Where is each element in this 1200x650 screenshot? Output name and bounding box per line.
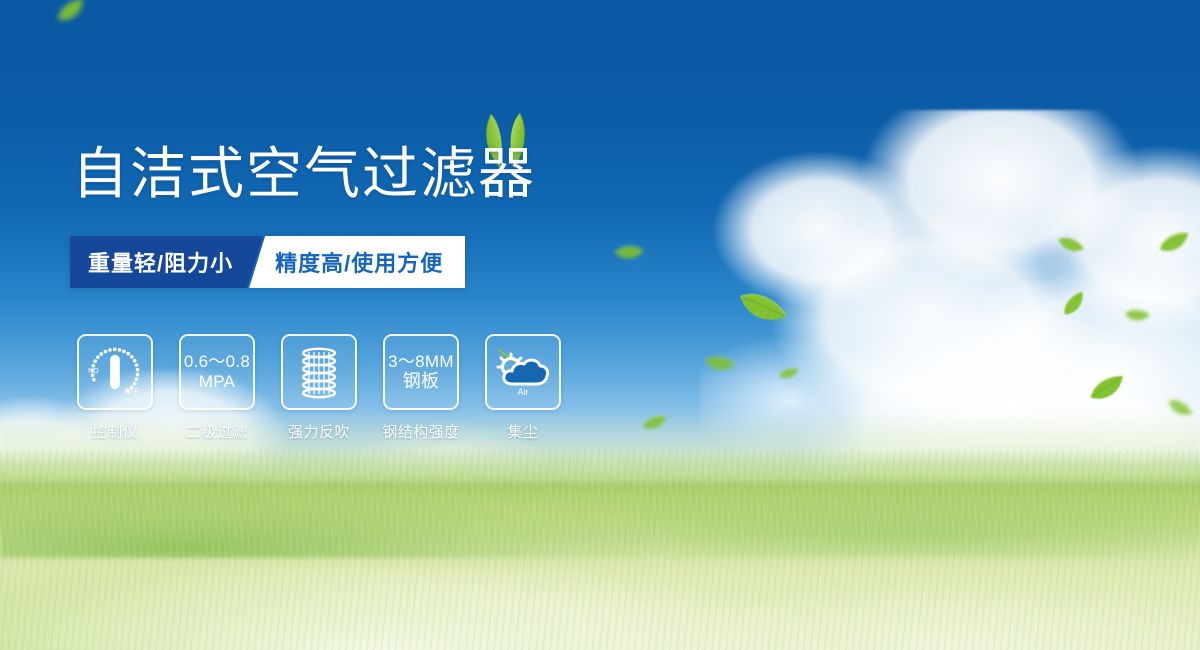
- feature-text-line-1: 钢板: [403, 371, 440, 392]
- feature-text-line-0: 0.6〜0.8: [184, 352, 250, 372]
- air-cloud-icon: Air: [485, 334, 561, 410]
- feature-label: 控制仪: [92, 421, 139, 442]
- feature-item-3: 3〜8MM钢板钢结构强度: [376, 334, 466, 442]
- svg-text:OFF: OFF: [125, 389, 139, 396]
- steel-plate-text-icon: 3〜8MM钢板: [383, 334, 459, 410]
- feature-text-line-1: MPA: [199, 372, 235, 392]
- feature-list: NOOFF控制仪0.6〜0.8MPA二级过滤强力反吹3〜8MM钢板钢结构强度Ai…: [70, 334, 568, 442]
- feature-item-1: 0.6〜0.8MPA二级过滤: [172, 334, 262, 442]
- blowback-filter-icon: [281, 334, 357, 410]
- feature-label: 二级过滤: [186, 421, 248, 442]
- feature-item-4: Air集尘: [478, 334, 568, 442]
- subtitle-right-segment: 精度高/使用方便: [249, 236, 465, 288]
- svg-text:Air: Air: [518, 387, 529, 397]
- svg-text:NO: NO: [88, 368, 99, 375]
- product-banner: 自洁式空气过滤器 重量轻/阻力小 精度高/使用方便 NOOFF控制仪0.6〜0.…: [0, 0, 1200, 650]
- feature-label: 强力反吹: [288, 421, 350, 442]
- feature-item-0: NOOFF控制仪: [70, 334, 160, 442]
- feature-text-line-0: 3〜8MM: [388, 352, 454, 372]
- feature-label: 集尘: [507, 421, 538, 442]
- subtitle-ribbon: 重量轻/阻力小 精度高/使用方便: [70, 236, 465, 288]
- page-title: 自洁式空气过滤器: [72, 146, 536, 202]
- subtitle-left-segment: 重量轻/阻力小: [70, 236, 263, 288]
- control-dial-icon: NOOFF: [77, 334, 153, 410]
- feature-item-2: 强力反吹: [274, 334, 364, 442]
- feature-label: 钢结构强度: [382, 421, 460, 442]
- pressure-text-icon: 0.6〜0.8MPA: [179, 334, 255, 410]
